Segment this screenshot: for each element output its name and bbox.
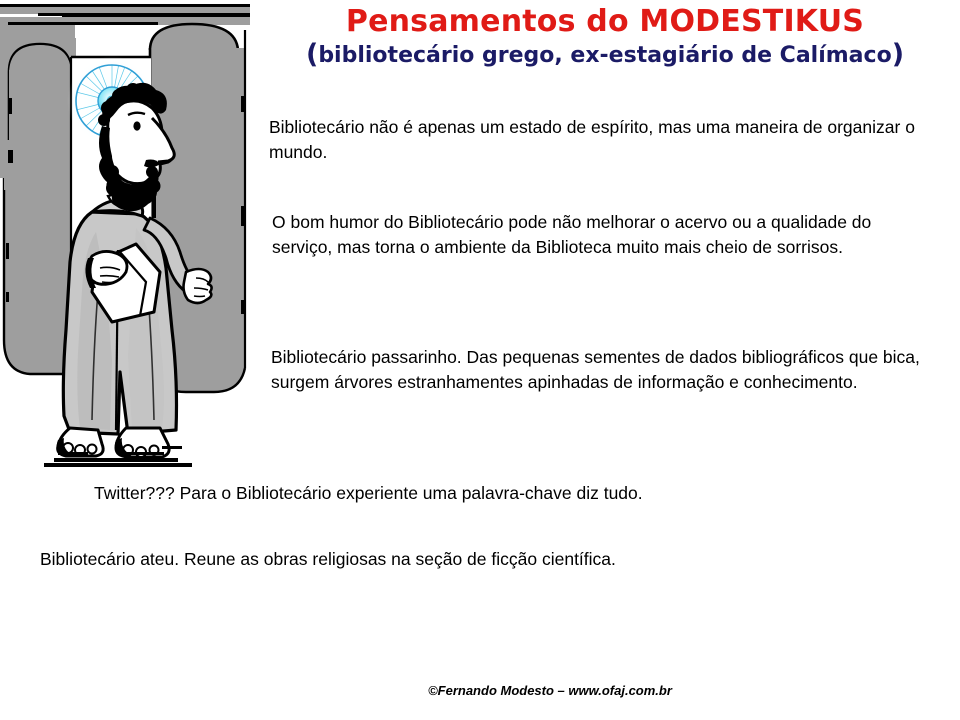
subtitle-text: bibliotecário grego, ex-estagiário de Ca… [318, 43, 891, 68]
footer-credit: ©Fernando Modesto – www.ofaj.com.br [428, 683, 672, 699]
quote-paragraph-2: O bom humor do Bibliotecário pode não me… [272, 210, 932, 260]
quote-paragraph-1: Bibliotecário não é apenas um estado de … [269, 115, 959, 165]
footer: ©Fernando Modesto – www.ofaj.com.br [0, 682, 960, 700]
greek-librarian-cartoon [0, 0, 250, 478]
quote-paragraph-4: Twitter??? Para o Bibliotecário experien… [94, 481, 894, 506]
quote-paragraph-5: Bibliotecário ateu. Reune as obras relig… [40, 547, 920, 572]
title-block: Pensamentos do MODESTIKUS (bibliotecário… [250, 4, 960, 71]
subtitle-close-paren: ) [892, 39, 904, 70]
page-title: Pensamentos do MODESTIKUS [250, 4, 960, 40]
quote-paragraph-3: Bibliotecário passarinho. Das pequenas s… [271, 345, 931, 395]
page-subtitle: (bibliotecário grego, ex-estagiário de C… [250, 40, 960, 71]
subtitle-open-paren: ( [306, 39, 318, 70]
slide-canvas: Pensamentos do MODESTIKUS (bibliotecário… [0, 0, 960, 720]
